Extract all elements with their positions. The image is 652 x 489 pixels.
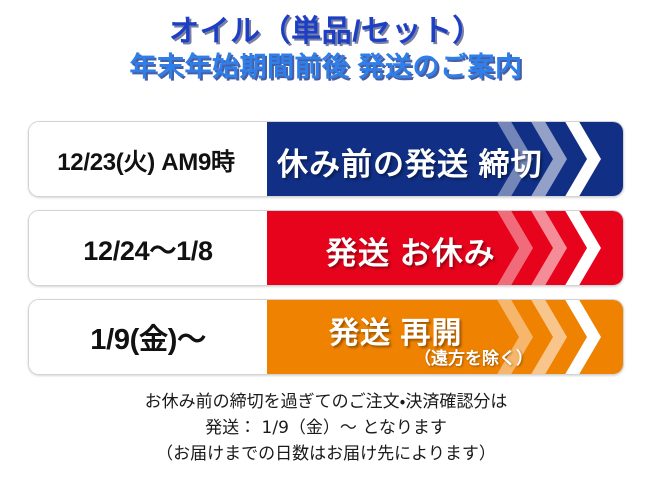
row-status-label: 発送 お休み: [326, 228, 496, 273]
row-date-cell: 12/24〜1/8: [29, 211, 267, 285]
title-line-secondary: 年末年始期間前後 発送のご案内: [0, 51, 652, 84]
schedule-row-resume: 1/9(金)〜 発送 再開 （遠方を除く）: [28, 299, 624, 375]
row-status-sublabel: （遠方を除く）: [414, 344, 533, 369]
schedule-row-closed: 12/24〜1/8 発送 お休み: [28, 210, 624, 286]
row-date-cell: 12/23(火) AM9時: [29, 122, 267, 196]
banner-title: オイル（単品/セット） 年末年始期間前後 発送のご案内: [0, 14, 652, 84]
footer-note-line-1: お休み前の締切を過ぎてのご注文・決済確認分は: [0, 390, 652, 416]
schedule-row-deadline: 12/23(火) AM9時 休み前の発送 締切: [28, 121, 624, 197]
footer-note-line-2: 発送： 1/9（金）〜 となります: [0, 416, 652, 442]
footer-note-line-3: （お届けまでの日数はお届け先によります）: [0, 442, 652, 468]
row-date-label: 1/9(金)〜: [90, 316, 206, 358]
row-date-label: 12/24〜1/8: [83, 229, 212, 268]
row-date-cell: 1/9(金)〜: [29, 300, 267, 374]
shipping-schedule-banner: オイル（単品/セット） 年末年始期間前後 発送のご案内 12/23(火) AM9…: [0, 0, 652, 489]
row-status-label: 休み前の発送 締切: [277, 139, 543, 184]
row-date-label: 12/23(火) AM9時: [57, 142, 238, 177]
footer-note: お休み前の締切を過ぎてのご注文・決済確認分は 発送： 1/9（金）〜 となります…: [0, 390, 652, 467]
title-line-primary: オイル（単品/セット）: [0, 14, 652, 49]
